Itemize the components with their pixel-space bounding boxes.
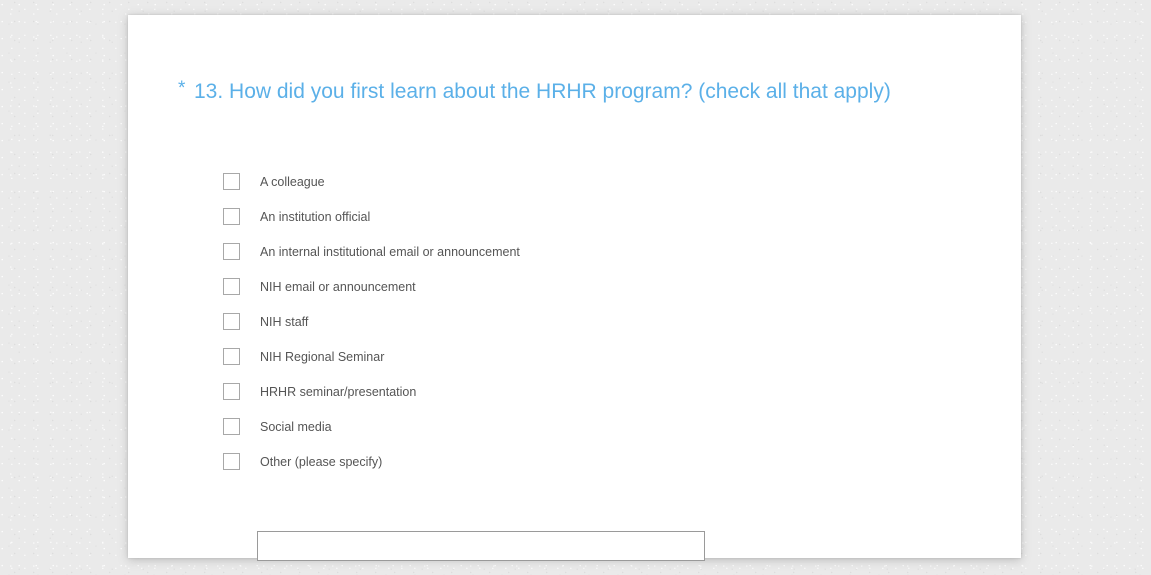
question-heading-text: 13. How did you first learn about the HR… xyxy=(194,80,891,103)
option-label: A colleague xyxy=(260,174,325,190)
checkbox-icon[interactable] xyxy=(223,173,240,190)
checkbox-icon[interactable] xyxy=(223,278,240,295)
checkbox-icon[interactable] xyxy=(223,453,240,470)
checkbox-icon[interactable] xyxy=(223,383,240,400)
option-label: An internal institutional email or annou… xyxy=(260,244,520,260)
option-row-nih-staff[interactable]: NIH staff xyxy=(223,304,923,339)
option-row-nih-email-or-announcement[interactable]: NIH email or announcement xyxy=(223,269,923,304)
option-label: Social media xyxy=(260,419,332,435)
option-row-an-institution-official[interactable]: An institution official xyxy=(223,199,923,234)
option-label: NIH email or announcement xyxy=(260,279,416,295)
option-row-a-colleague[interactable]: A colleague xyxy=(223,164,923,199)
checkbox-icon[interactable] xyxy=(223,313,240,330)
option-row-social-media[interactable]: Social media xyxy=(223,409,923,444)
option-label: HRHR seminar/presentation xyxy=(260,384,416,400)
option-label: Other (please specify) xyxy=(260,454,382,470)
required-asterisk: * xyxy=(178,74,185,104)
other-input-wrapper xyxy=(257,531,705,561)
option-label: NIH staff xyxy=(260,314,308,330)
option-row-internal-institutional-email[interactable]: An internal institutional email or annou… xyxy=(223,234,923,269)
page-background: * 13. How did you first learn about the … xyxy=(0,0,1151,575)
checkbox-icon[interactable] xyxy=(223,208,240,225)
option-row-nih-regional-seminar[interactable]: NIH Regional Seminar xyxy=(223,339,923,374)
survey-card: * 13. How did you first learn about the … xyxy=(128,15,1021,558)
question-block: * 13. How did you first learn about the … xyxy=(178,74,978,110)
option-label: NIH Regional Seminar xyxy=(260,349,384,365)
other-specify-input[interactable] xyxy=(257,531,705,561)
checkbox-icon[interactable] xyxy=(223,348,240,365)
checkbox-icon[interactable] xyxy=(223,243,240,260)
checkbox-icon[interactable] xyxy=(223,418,240,435)
option-row-hrhr-seminar-presentation[interactable]: HRHR seminar/presentation xyxy=(223,374,923,409)
question-heading: * 13. How did you first learn about the … xyxy=(178,74,934,110)
option-label: An institution official xyxy=(260,209,370,225)
option-row-other-please-specify[interactable]: Other (please specify) xyxy=(223,444,923,479)
checkbox-options-list: A colleague An institution official An i… xyxy=(223,164,923,479)
